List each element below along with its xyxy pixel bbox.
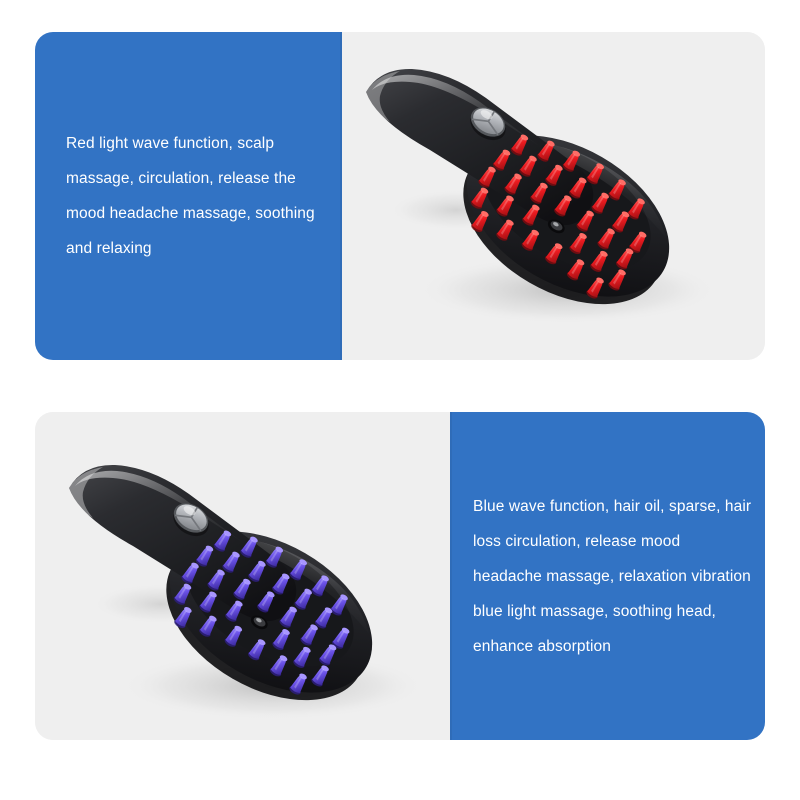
red-light-feature-text: Red light wave function, scalp massage, … (35, 126, 342, 266)
product-image-red (342, 32, 765, 358)
blue-light-product-photo (35, 412, 450, 740)
red-light-product-photo (342, 32, 765, 360)
blue-light-feature-text: Blue wave function, hair oil, sparse, ha… (450, 489, 765, 664)
product-feature-collage: Red light wave function, scalp massage, … (0, 0, 800, 800)
panel-blue-light: Blue wave function, hair oil, sparse, ha… (35, 412, 765, 740)
red-light-text-block: Red light wave function, scalp massage, … (35, 32, 342, 360)
blue-light-text-block: Blue wave function, hair oil, sparse, ha… (450, 412, 765, 740)
product-image-blue (35, 428, 450, 738)
panel-red-light: Red light wave function, scalp massage, … (35, 32, 765, 360)
